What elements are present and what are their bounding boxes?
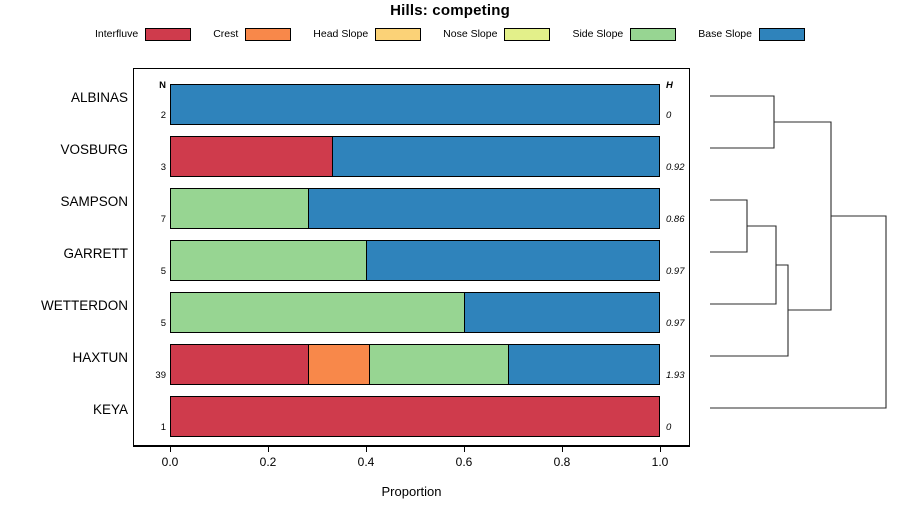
row-n-value: 2 <box>138 110 166 121</box>
bar-segment[interactable] <box>366 241 659 280</box>
x-axis-line <box>133 446 690 447</box>
bar-segment[interactable] <box>508 345 659 384</box>
row-label-wetterdon: WETTERDON <box>18 298 128 313</box>
chart-root: Hills: competing InterfluveCrestHead Slo… <box>0 0 900 520</box>
dendro-merge-av-sgwh <box>774 122 831 310</box>
x-tick <box>170 446 171 452</box>
x-tick-label: 0.0 <box>150 455 190 469</box>
n-column-header: N <box>138 80 166 91</box>
bar-segment[interactable] <box>171 293 464 332</box>
row-label-sampson: SAMPSON <box>18 194 128 209</box>
dendro-merge-root-keya <box>710 216 886 408</box>
bar-segment[interactable] <box>171 85 659 124</box>
x-tick-label: 0.4 <box>346 455 386 469</box>
bar-segment[interactable] <box>369 345 508 384</box>
legend-item[interactable]: Crest <box>213 28 291 41</box>
legend-label: Base Slope <box>698 28 752 40</box>
row-label-vosburg: VOSBURG <box>18 142 128 157</box>
h-column-header: H <box>666 80 702 91</box>
bar-segment[interactable] <box>308 345 369 384</box>
row-label-albinas: ALBINAS <box>18 90 128 105</box>
x-tick <box>464 446 465 452</box>
legend-item[interactable]: Interfluve <box>95 28 191 41</box>
row-n-value: 5 <box>138 266 166 277</box>
bar-row[interactable] <box>170 396 660 437</box>
dendrogram <box>700 68 896 446</box>
legend-swatch <box>630 28 676 41</box>
row-label-keya: KEYA <box>18 402 128 417</box>
bar-row[interactable] <box>170 188 660 229</box>
bar-row[interactable] <box>170 84 660 125</box>
legend-item[interactable]: Head Slope <box>313 28 421 41</box>
bar-segment[interactable] <box>332 137 659 176</box>
x-tick-label: 0.8 <box>542 455 582 469</box>
x-axis-label: Proportion <box>133 484 690 499</box>
row-label-garrett: GARRETT <box>18 246 128 261</box>
row-n-value: 7 <box>138 214 166 225</box>
bar-segment[interactable] <box>171 397 659 436</box>
legend-item[interactable]: Nose Slope <box>443 28 550 41</box>
legend: InterfluveCrestHead SlopeNose SlopeSide … <box>0 24 900 44</box>
bar-segment[interactable] <box>171 241 366 280</box>
legend-item[interactable]: Base Slope <box>698 28 805 41</box>
x-tick <box>562 446 563 452</box>
row-n-value: 3 <box>138 162 166 173</box>
legend-swatch <box>245 28 291 41</box>
row-h-value: 0.97 <box>666 318 702 329</box>
bar-row[interactable] <box>170 240 660 281</box>
row-h-value: 1.93 <box>666 370 702 381</box>
row-n-value: 5 <box>138 318 166 329</box>
bar-segment[interactable] <box>171 189 308 228</box>
x-tick <box>660 446 661 452</box>
row-n-value: 39 <box>138 370 166 381</box>
legend-swatch <box>759 28 805 41</box>
legend-label: Side Slope <box>572 28 623 40</box>
bar-segment[interactable] <box>171 345 308 384</box>
legend-item[interactable]: Side Slope <box>572 28 676 41</box>
legend-label: Head Slope <box>313 28 368 40</box>
row-h-value: 0.92 <box>666 162 702 173</box>
legend-label: Interfluve <box>95 28 138 40</box>
x-tick <box>366 446 367 452</box>
bar-segment[interactable] <box>171 137 332 176</box>
dendrogram-svg <box>700 68 896 446</box>
x-tick-label: 0.6 <box>444 455 484 469</box>
row-h-value: 0 <box>666 110 702 121</box>
legend-swatch <box>375 28 421 41</box>
bar-row[interactable] <box>170 292 660 333</box>
row-h-value: 0.97 <box>666 266 702 277</box>
bar-segment[interactable] <box>308 189 659 228</box>
legend-label: Nose Slope <box>443 28 497 40</box>
row-h-value: 0.86 <box>666 214 702 225</box>
bar-row[interactable] <box>170 136 660 177</box>
x-tick-label: 1.0 <box>640 455 680 469</box>
dendro-merge-sg-wetterdon <box>710 226 776 304</box>
bar-row[interactable] <box>170 344 660 385</box>
row-n-value: 1 <box>138 422 166 433</box>
legend-label: Crest <box>213 28 238 40</box>
bar-segment[interactable] <box>464 293 659 332</box>
dendro-merge-sampson-garrett <box>710 200 747 252</box>
row-label-haxtun: HAXTUN <box>18 350 128 365</box>
legend-swatch <box>504 28 550 41</box>
page-title: Hills: competing <box>0 2 900 19</box>
row-h-value: 0 <box>666 422 702 433</box>
legend-swatch <box>145 28 191 41</box>
x-tick-label: 0.2 <box>248 455 288 469</box>
x-tick <box>268 446 269 452</box>
dendro-merge-albinas-vosburg <box>710 96 774 148</box>
